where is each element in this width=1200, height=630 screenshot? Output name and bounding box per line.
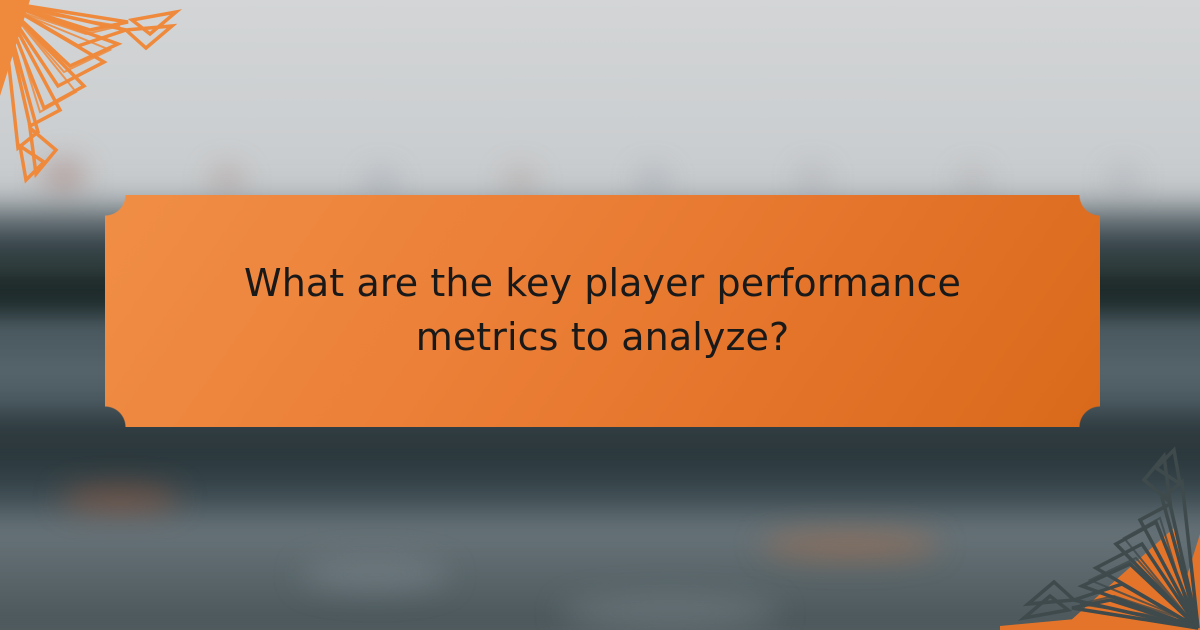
background-figure xyxy=(506,170,534,194)
question-card-content: What are the key player performance metr… xyxy=(173,257,1033,365)
background-figure xyxy=(368,172,394,196)
background-figure xyxy=(212,168,242,194)
background-highlight xyxy=(560,596,780,630)
background-figure xyxy=(1110,168,1136,192)
background-figure xyxy=(640,170,666,194)
background-figure xyxy=(960,170,986,194)
background-sky xyxy=(0,0,1200,227)
background-highlight xyxy=(60,488,180,510)
background-figure xyxy=(44,160,84,194)
background-highlight xyxy=(300,560,450,590)
poster-canvas: What are the key player performance metr… xyxy=(0,0,1200,630)
background-figure xyxy=(800,168,826,192)
question-card: What are the key player performance metr… xyxy=(105,195,1100,427)
question-text: What are the key player performance metr… xyxy=(173,257,1033,365)
background-highlight xyxy=(760,532,940,558)
